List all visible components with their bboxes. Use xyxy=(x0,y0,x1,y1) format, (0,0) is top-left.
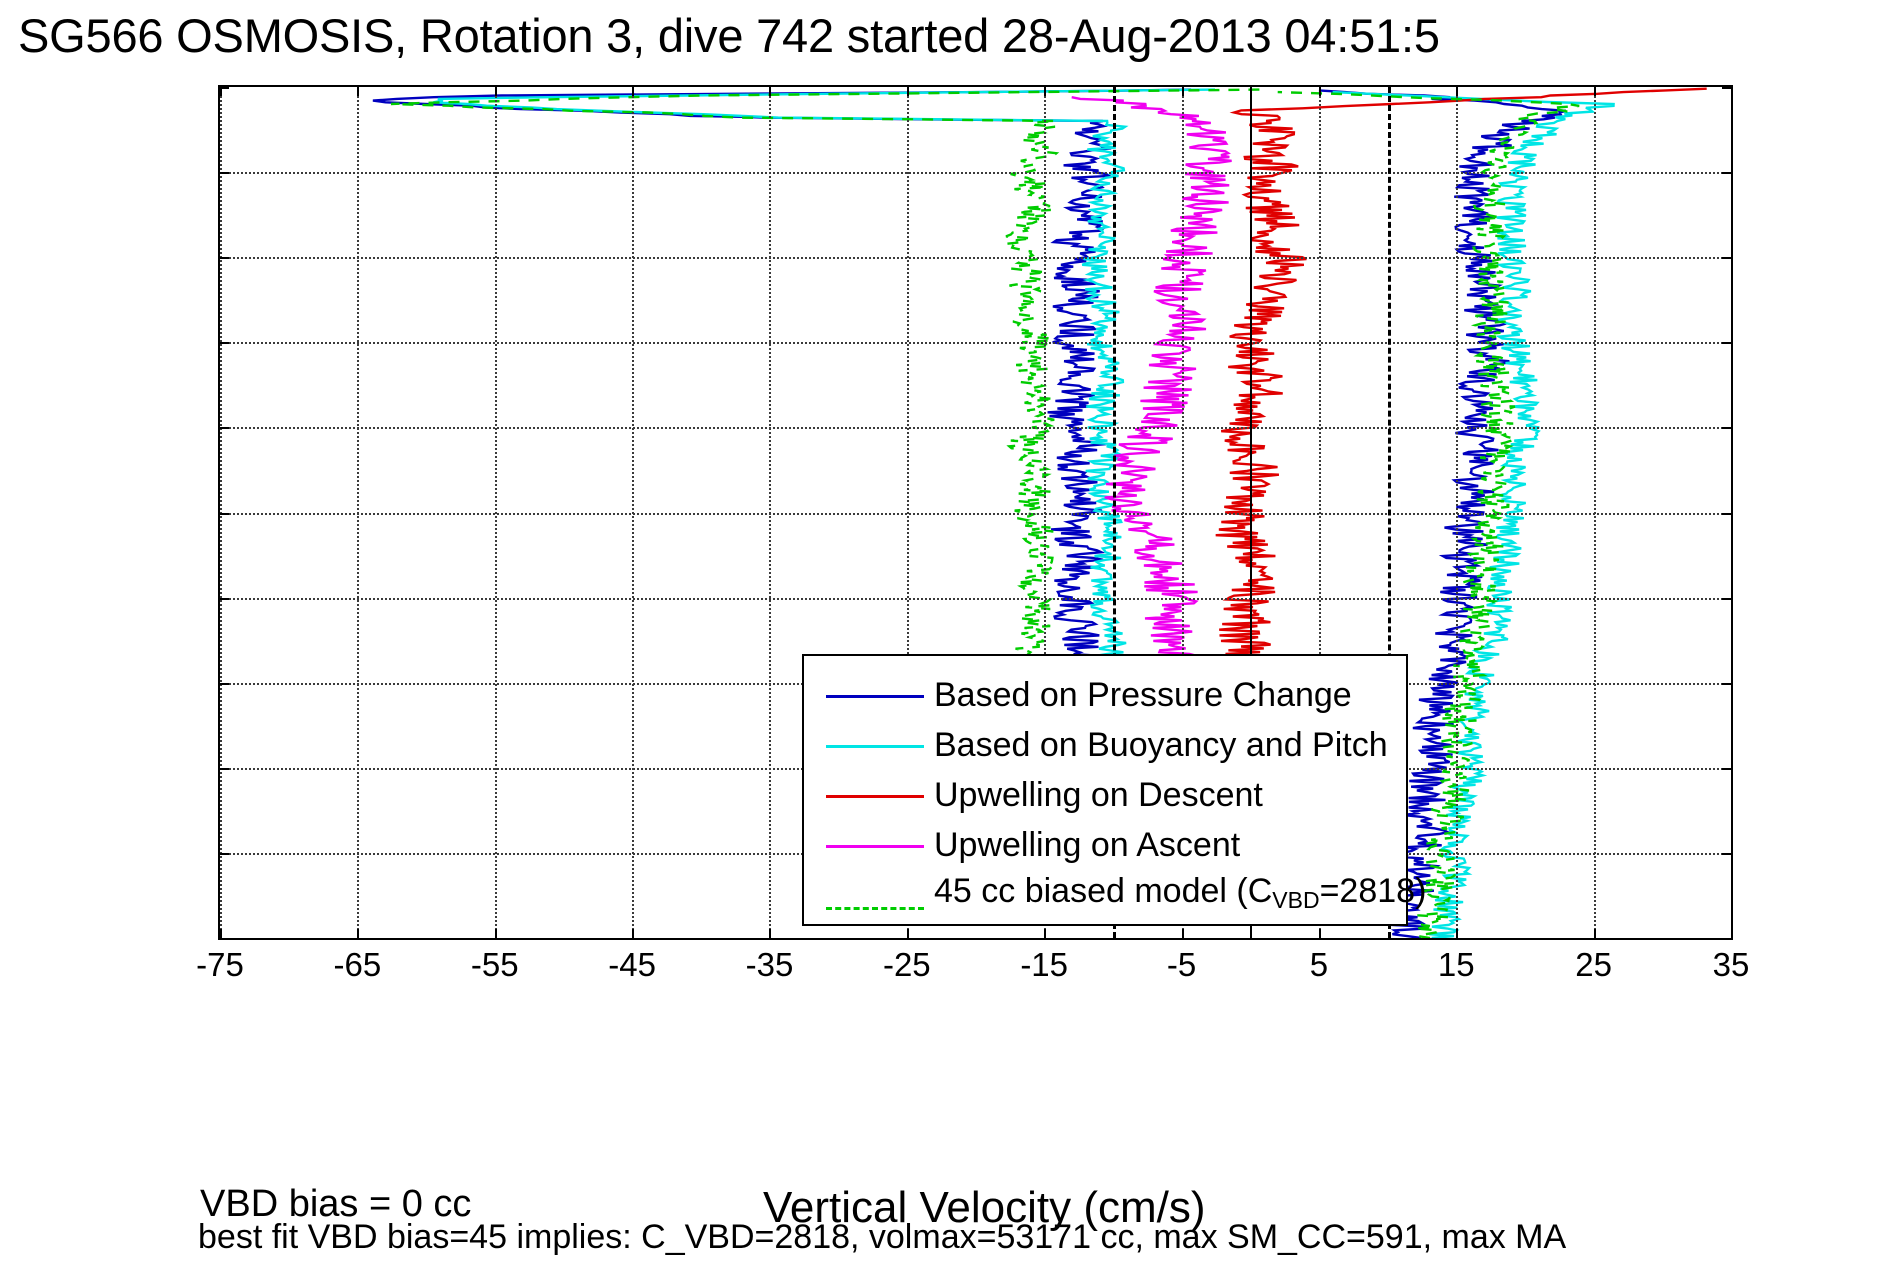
best-fit-annotation: best fit VBD bias=45 implies: C_VBD=2818… xyxy=(198,1218,1566,1257)
legend-line-swatch xyxy=(814,870,934,920)
legend-item[interactable]: 45 cc biased model (CVBD=2818) xyxy=(804,870,1406,920)
x-tick xyxy=(769,87,771,96)
y-tick xyxy=(1722,172,1731,174)
legend-item[interactable]: Upwelling on Ascent xyxy=(804,820,1406,870)
legend-line-swatch xyxy=(814,670,934,720)
legend-label: Upwelling on Descent xyxy=(934,778,1263,812)
x-tick-label: -5 xyxy=(1167,946,1196,984)
x-tick xyxy=(632,87,634,96)
x-tick xyxy=(1456,87,1458,96)
x-tick-label: 25 xyxy=(1575,946,1612,984)
x-tick xyxy=(1594,929,1596,938)
x-tick-label: 5 xyxy=(1310,946,1328,984)
x-tick-label: -55 xyxy=(471,946,519,984)
y-tick xyxy=(1722,427,1731,429)
y-tick xyxy=(220,683,229,685)
y-tick xyxy=(220,513,229,515)
x-tick xyxy=(1044,87,1046,96)
y-tick xyxy=(1722,342,1731,344)
x-tick-label: 15 xyxy=(1438,946,1475,984)
y-tick xyxy=(220,342,229,344)
y-gridline xyxy=(220,427,1731,429)
y-tick xyxy=(220,172,229,174)
legend-label: 45 cc biased model (CVBD=2818) xyxy=(934,874,1426,917)
y-tick xyxy=(1722,683,1731,685)
y-gridline xyxy=(220,172,1731,174)
y-tick xyxy=(1722,853,1731,855)
x-tick xyxy=(769,929,771,938)
legend-label: Upwelling on Ascent xyxy=(934,828,1240,862)
y-gridline xyxy=(220,513,1731,515)
x-tick-label: -45 xyxy=(608,946,656,984)
legend-label: Based on Buoyancy and Pitch xyxy=(934,728,1388,762)
x-tick-label: 35 xyxy=(1713,946,1750,984)
x-tick-label: -75 xyxy=(196,946,244,984)
legend-item[interactable]: Based on Buoyancy and Pitch xyxy=(804,720,1406,770)
y-gridline xyxy=(220,342,1731,344)
legend-label: Based on Pressure Change xyxy=(934,678,1352,712)
legend-line-swatch xyxy=(814,820,934,870)
y-tick xyxy=(1722,513,1731,515)
chart-title: SG566 OSMOSIS, Rotation 3, dive 742 star… xyxy=(18,8,1891,64)
y-tick xyxy=(1722,768,1731,770)
y-tick xyxy=(220,768,229,770)
y-tick xyxy=(220,87,229,89)
x-tick xyxy=(1594,87,1596,96)
x-tick xyxy=(357,929,359,938)
y-gridline xyxy=(220,598,1731,600)
legend-line-swatch xyxy=(814,770,934,820)
x-tick xyxy=(907,929,909,938)
y-tick xyxy=(220,598,229,600)
x-tick xyxy=(1319,87,1321,96)
x-tick xyxy=(1182,929,1184,938)
x-tick xyxy=(1319,929,1321,938)
x-tick xyxy=(1044,929,1046,938)
legend-item[interactable]: Based on Pressure Change xyxy=(804,670,1406,720)
x-tick-label: -35 xyxy=(746,946,794,984)
legend-box: Based on Pressure ChangeBased on Buoyanc… xyxy=(802,654,1408,926)
x-tick xyxy=(632,929,634,938)
x-tick xyxy=(495,87,497,96)
x-tick-label: -65 xyxy=(334,946,382,984)
y-tick xyxy=(1722,598,1731,600)
x-tick xyxy=(495,929,497,938)
y-tick xyxy=(220,853,229,855)
y-tick xyxy=(220,257,229,259)
y-tick xyxy=(1722,257,1731,259)
x-tick xyxy=(1182,87,1184,96)
legend-line-swatch xyxy=(814,720,934,770)
y-tick xyxy=(1722,87,1731,89)
x-tick-label: -15 xyxy=(1020,946,1068,984)
y-tick xyxy=(220,427,229,429)
x-tick-label: -25 xyxy=(883,946,931,984)
x-tick xyxy=(1456,929,1458,938)
x-tick xyxy=(220,929,222,938)
legend-item[interactable]: Upwelling on Descent xyxy=(804,770,1406,820)
x-tick xyxy=(357,87,359,96)
x-tick xyxy=(907,87,909,96)
y-gridline xyxy=(220,257,1731,259)
